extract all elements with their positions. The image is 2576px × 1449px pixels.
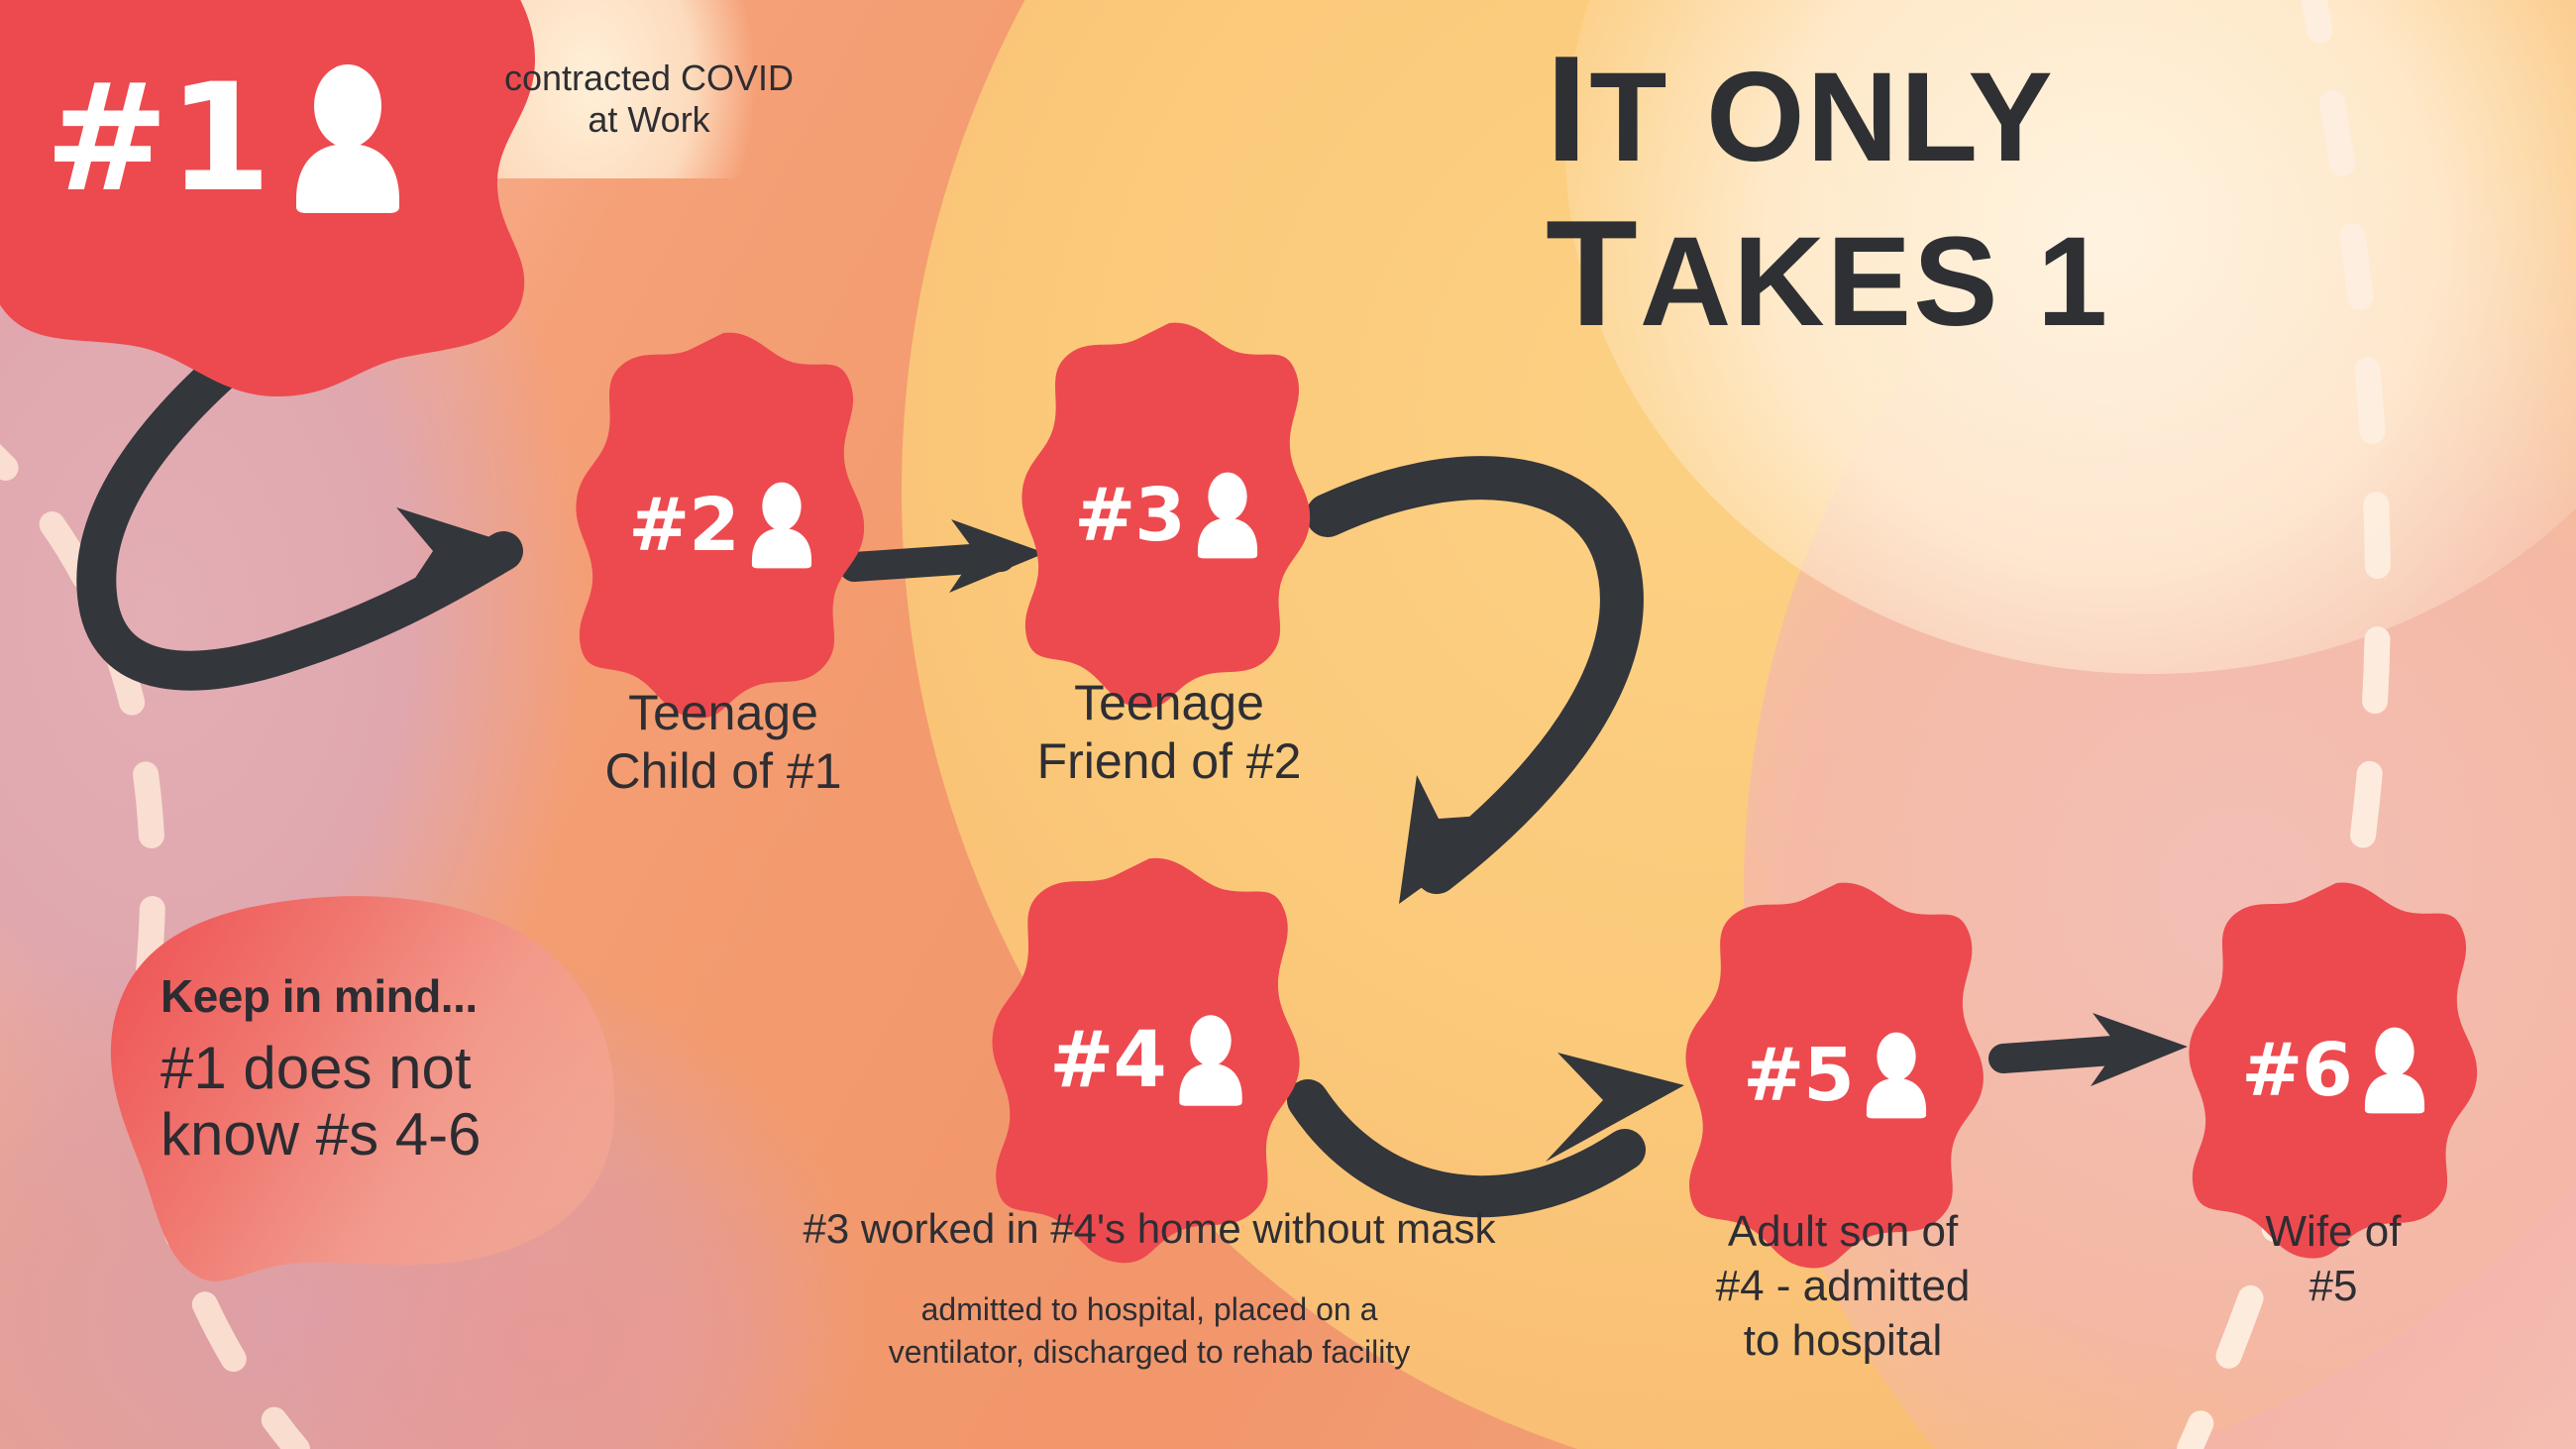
badge-2-content: #2 [628, 482, 818, 569]
infographic-canvas: IT ONLY TAKES 1 [0, 0, 2576, 1449]
node-1-caption: contracted COVID at Work [436, 57, 862, 142]
node-badge-2[interactable]: #2 [575, 327, 872, 724]
person-icon [2358, 1027, 2431, 1114]
node-2-caption: Teenage Child of #1 [520, 684, 926, 801]
badge-4-number: #4 [1049, 1016, 1166, 1105]
person-icon [1191, 472, 1264, 559]
keep-in-mind-heading: Keep in mind... [161, 969, 626, 1023]
badge-3-number: #3 [1074, 473, 1185, 558]
person-icon [284, 64, 411, 213]
badge-1-content: #1 [45, 53, 411, 225]
badge-2-number: #2 [628, 483, 739, 568]
badge-5-number: #5 [1743, 1033, 1854, 1118]
badge-6-content: #6 [2241, 1027, 2431, 1114]
node-4-caption-sub: admitted to hospital, placed on a ventil… [733, 1288, 1565, 1374]
keep-in-mind-body: #1 does not know #s 4-6 [161, 1035, 626, 1168]
person-icon [1172, 1015, 1249, 1106]
node-4-caption: #3 worked in #4's home without mask [674, 1204, 1625, 1254]
badge-1-number: #1 [45, 53, 270, 225]
badge-4-content: #4 [1049, 1015, 1249, 1106]
person-icon [1860, 1032, 1933, 1119]
badge-5-content: #5 [1743, 1032, 1933, 1119]
arrow-1-to-2 [96, 367, 515, 671]
node-5-caption: Adult son of #4 - admitted to hospital [1645, 1204, 2041, 1368]
keep-in-mind-callout[interactable]: Keep in mind... #1 does not know #s 4-6 [99, 892, 664, 1288]
person-icon [745, 482, 818, 569]
node-badge-3[interactable]: #3 [1020, 317, 1318, 714]
badge-6-number: #6 [2241, 1028, 2352, 1113]
keep-in-mind-text-block: Keep in mind... #1 does not know #s 4-6 [161, 969, 626, 1168]
arrow-5-to-6 [2003, 1013, 2188, 1086]
arrow-2-to-3 [854, 519, 1045, 593]
arrow-4-to-5 [1308, 1053, 1684, 1196]
node-3-caption: Teenage Friend of #2 [966, 674, 1372, 791]
node-6-caption: Wife of #5 [2170, 1204, 2497, 1313]
badge-3-content: #3 [1074, 472, 1264, 559]
